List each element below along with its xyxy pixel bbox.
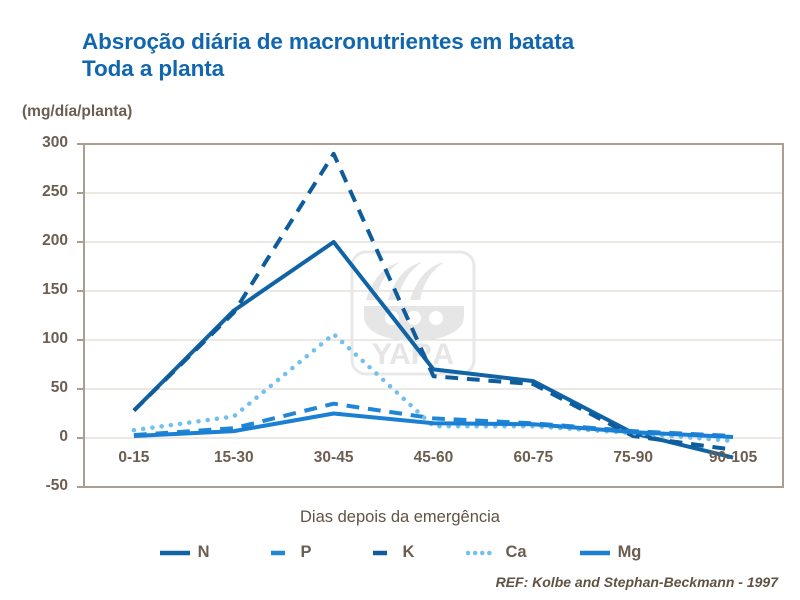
legend-swatch-n-icon [159,546,191,560]
chart-legend: NPKCaMg [0,543,800,562]
legend-item-p[interactable]: P [262,543,312,562]
legend-item-n[interactable]: N [159,543,210,562]
legend-item-ca[interactable]: Ca [466,543,526,562]
yara-watermark-icon: YARA [352,252,474,374]
x-axis-tick-label: 15-30 [184,449,284,467]
chart-container: Absroção diária de macronutrientes em ba… [0,0,800,600]
y-axis-tick-label: 50 [16,379,68,397]
x-axis-tick-label: 0-15 [84,449,184,467]
y-axis-tick-label: 100 [16,330,68,348]
legend-swatch-mg-icon [579,546,611,560]
reference-citation: REF: Kolbe and Stephan-Beckmann - 1997 [496,574,778,590]
y-axis-tick-label: 0 [16,428,68,446]
x-axis-tick-label: 30-45 [284,449,384,467]
legend-item-k[interactable]: K [364,543,415,562]
legend-swatch-k-icon [364,546,396,560]
y-axis-tick-label: 300 [16,134,68,152]
y-axis-tick-label: 200 [16,232,68,250]
x-axis-tick-label: 45-60 [384,449,484,467]
x-axis-title: Dias depois da emergência [0,508,800,527]
legend-swatch-p-icon [262,546,294,560]
y-axis-tick-label: 250 [16,183,68,201]
legend-item-mg[interactable]: Mg [579,543,642,562]
y-axis-tick-label: 150 [16,281,68,299]
legend-label-ca: Ca [505,543,526,562]
y-axis-tick-label: -50 [16,477,68,495]
legend-label-n: N [198,543,210,562]
legend-label-k: K [403,543,415,562]
x-axis-tick-label: 60-75 [483,449,583,467]
legend-swatch-ca-icon [466,546,498,560]
x-axis-tick-label: 90-105 [683,449,783,467]
x-axis-tick-label: 75-90 [583,449,683,467]
data-series [134,154,733,458]
legend-label-p: P [301,543,312,562]
legend-label-mg: Mg [618,543,642,562]
